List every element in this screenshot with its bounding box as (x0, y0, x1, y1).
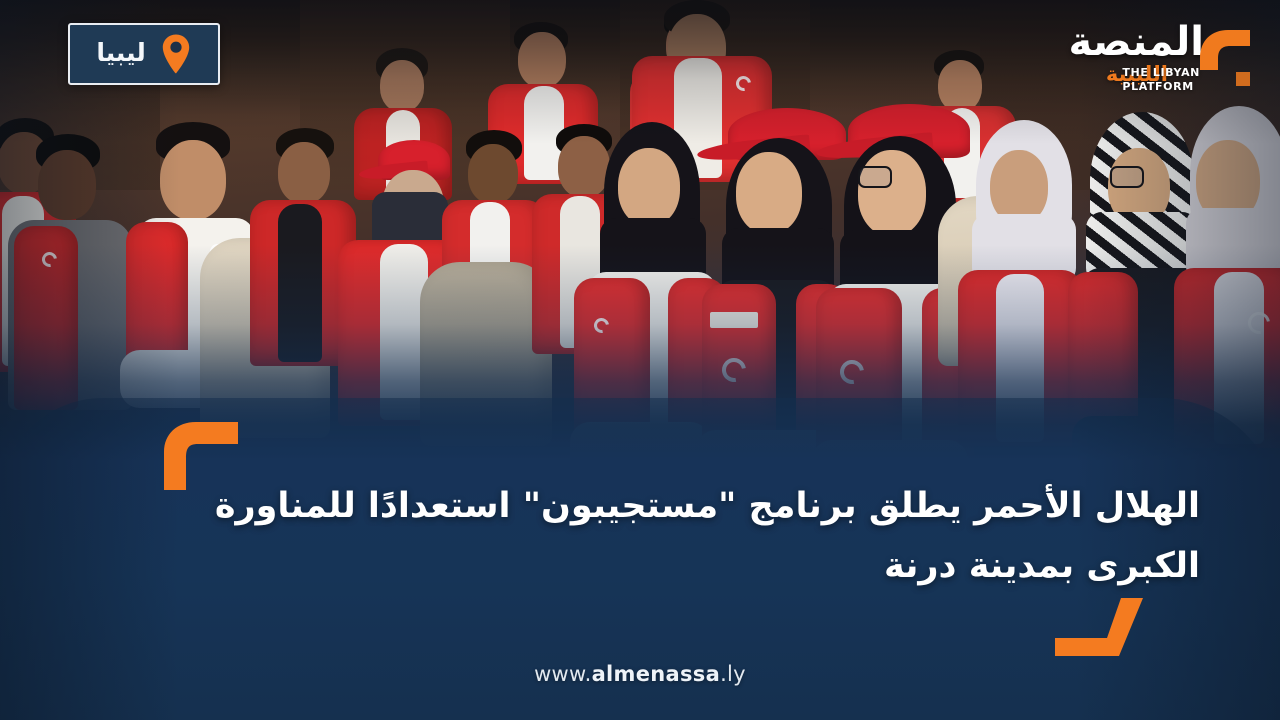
platform-bracket-mark-icon (1194, 24, 1256, 90)
logo-arabic-name: المنصة (1068, 22, 1204, 62)
headline: الهلال الأحمر يطلق برنامج "مستجيبون" است… (150, 476, 1200, 596)
url-name: almenassa (592, 662, 721, 686)
location-badge[interactable]: ليبيا (68, 23, 220, 85)
orange-corner-bracket-icon (1055, 598, 1147, 660)
headline-line-1: الهلال الأحمر يطلق برنامج "مستجيبون" است… (215, 486, 1200, 526)
logo-english-line2: PLATFORM (1122, 80, 1193, 93)
eyeglasses (1110, 166, 1144, 188)
map-pin-icon (160, 33, 192, 75)
url-suffix: .ly (720, 662, 746, 686)
logo-english-line1: THE LIBYAN (1122, 66, 1200, 79)
website-url[interactable]: www.almenassa.ly (0, 662, 1280, 686)
eyeglasses (858, 166, 892, 188)
name-patch (710, 312, 758, 328)
site-logo[interactable]: المنصة الليبية THE LIBYAN PLATFORM (1046, 14, 1256, 106)
logo-english-name: THE LIBYAN PLATFORM (1122, 66, 1200, 94)
location-label: ليبيا (96, 40, 145, 68)
headline-line-2: الكبرى بمدينة درنة (150, 536, 1200, 596)
news-card: ليبيا المنصة الليبية THE LIBYAN PLATFORM… (0, 0, 1280, 720)
url-prefix: www. (534, 662, 591, 686)
